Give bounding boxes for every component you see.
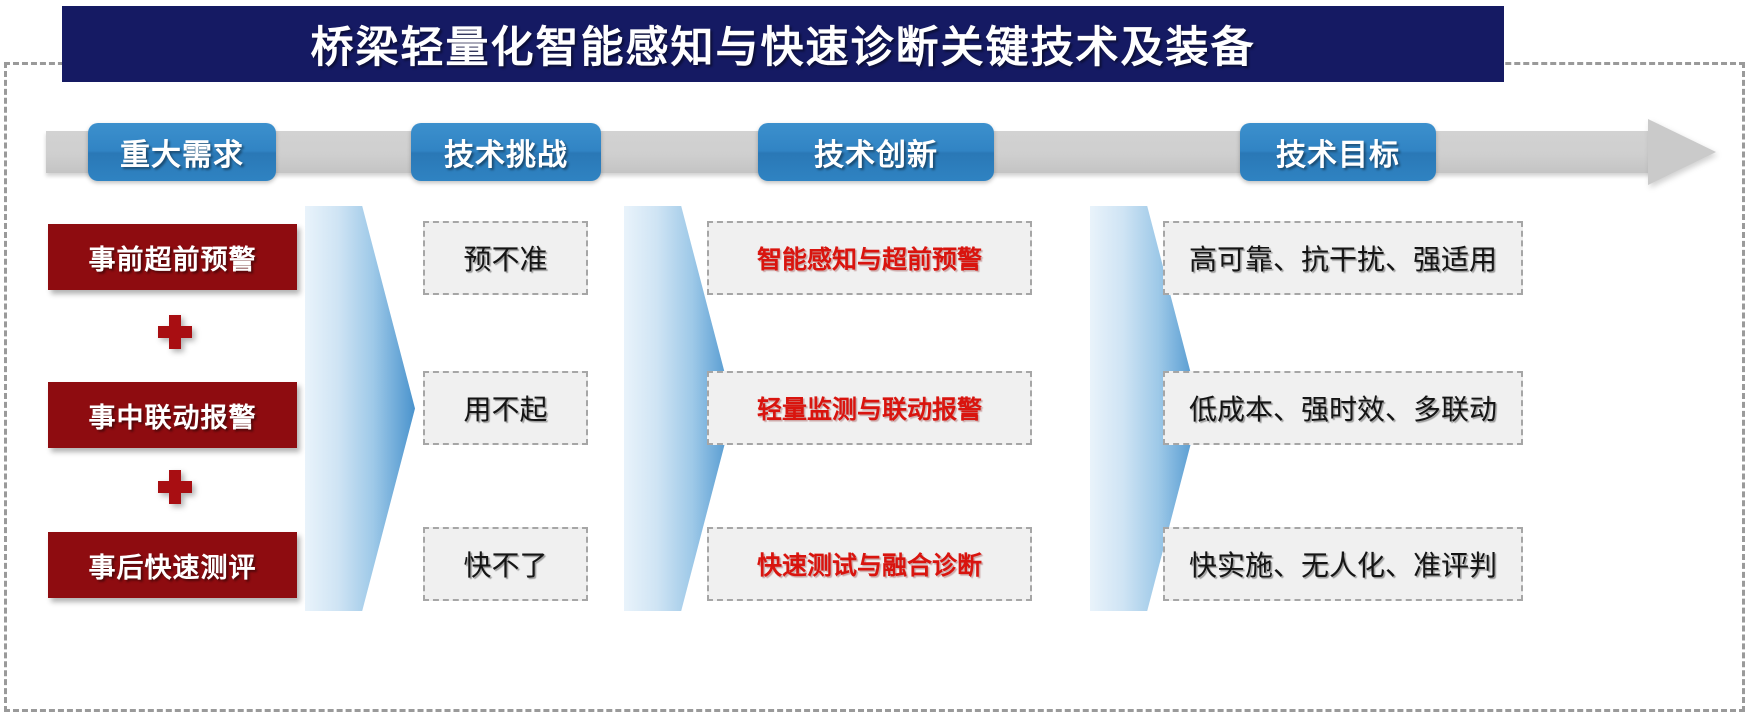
need-label: 事前超前预警 [89,238,257,277]
page-title: 桥梁轻量化智能感知与快速诊断关键技术及装备 [311,13,1256,75]
stage-header-needs[interactable]: 重大需求 [88,123,276,181]
challenge-box[interactable]: 快不了 [423,527,588,601]
goal-label: 快实施、无人化、准评判 [1189,544,1497,584]
need-label: 事中联动报警 [89,396,257,435]
plus-icon [158,315,192,349]
stage-header-label: 重大需求 [120,130,244,174]
stage-header-label: 技术创新 [814,130,938,174]
plus-icon [158,470,192,504]
challenge-box[interactable]: 预不准 [423,221,588,295]
chevron-right-icon [305,206,415,611]
goal-box[interactable]: 快实施、无人化、准评判 [1163,527,1523,601]
stage-header-label: 技术挑战 [444,130,568,174]
stage-header-goals[interactable]: 技术目标 [1240,123,1436,181]
stage-header-innovations[interactable]: 技术创新 [758,123,994,181]
need-label: 事后快速测评 [89,546,257,585]
need-box[interactable]: 事中联动报警 [48,382,297,448]
goal-box[interactable]: 高可靠、抗干扰、强适用 [1163,221,1523,295]
innovation-label: 快速测试与融合诊断 [757,546,982,582]
challenge-label: 用不起 [463,388,547,428]
challenge-label: 快不了 [463,544,547,584]
innovation-box[interactable]: 轻量监测与联动报警 [707,371,1032,445]
need-box[interactable]: 事后快速测评 [48,532,297,598]
innovation-box[interactable]: 智能感知与超前预警 [707,221,1032,295]
slide-title-bar: 桥梁轻量化智能感知与快速诊断关键技术及装备 [62,6,1504,82]
stage-header-challenges[interactable]: 技术挑战 [411,123,601,181]
stage-header-label: 技术目标 [1276,130,1400,174]
innovation-label: 轻量监测与联动报警 [757,390,982,426]
slide-canvas: 桥梁轻量化智能感知与快速诊断关键技术及装备 重大需求 技术挑战 技术创新 技术目… [0,0,1749,717]
challenge-label: 预不准 [463,238,547,278]
goal-box[interactable]: 低成本、强时效、多联动 [1163,371,1523,445]
goal-label: 低成本、强时效、多联动 [1189,388,1497,428]
innovation-box[interactable]: 快速测试与融合诊断 [707,527,1032,601]
need-box[interactable]: 事前超前预警 [48,224,297,290]
innovation-label: 智能感知与超前预警 [757,240,982,276]
goal-label: 高可靠、抗干扰、强适用 [1189,238,1497,278]
challenge-box[interactable]: 用不起 [423,371,588,445]
right-arrow-icon [1648,119,1716,185]
